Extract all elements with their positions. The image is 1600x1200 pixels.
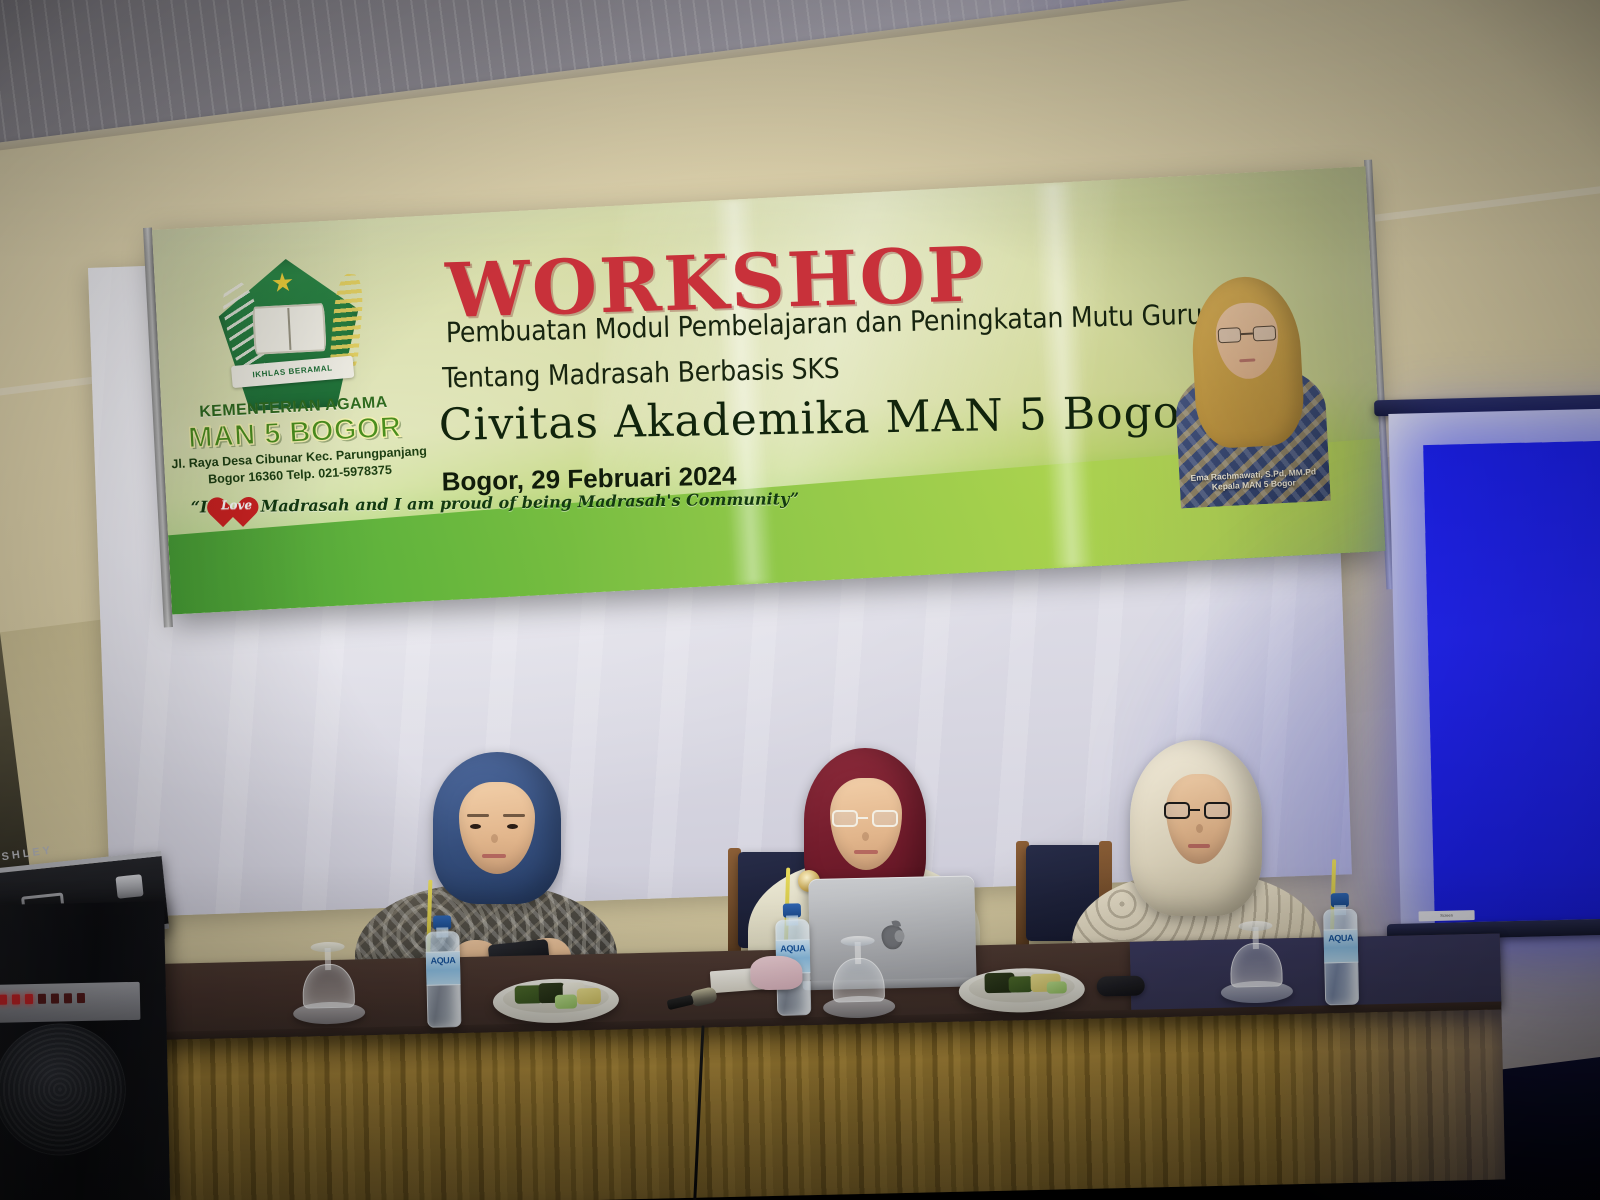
- person-left-brow-right: [503, 814, 525, 817]
- person-left-eye-left: [470, 824, 481, 829]
- screen-brand-label: Screen: [1419, 910, 1475, 921]
- snack-item: [555, 994, 577, 1008]
- snack-plate-left: [492, 969, 619, 1024]
- bottle-label: AQUA: [1324, 929, 1359, 964]
- person-center-mouth: [854, 850, 878, 854]
- snack-item: [1047, 981, 1067, 993]
- person-center-nose: [862, 832, 869, 841]
- person-left-nose: [491, 834, 498, 843]
- goblet-foot: [841, 936, 875, 947]
- water-bottle-left[interactable]: AQUA: [425, 915, 462, 1028]
- tissue-pack: [750, 955, 803, 990]
- banner-shading: [152, 166, 1385, 614]
- goblet-center: [830, 935, 888, 1022]
- person-right-glasses-icon: [1164, 802, 1230, 819]
- bottle-brand-text: AQUA: [776, 940, 810, 957]
- goblet-bowl: [302, 963, 355, 1008]
- snack-plate-right: [958, 959, 1085, 1014]
- bottle-label: AQUA: [426, 951, 461, 986]
- person-right-nose: [1196, 824, 1203, 833]
- bottle-brand-text: AQUA: [1324, 930, 1358, 947]
- goblet-bowl: [832, 957, 885, 1002]
- goblet-foot: [1238, 921, 1272, 932]
- goblet-bowl: [1230, 942, 1283, 987]
- bottle-brand-text: AQUA: [426, 952, 460, 969]
- event-banner: ★ IKHLAS BERAMAL KEMENTERIAN AGAMA MAN 5…: [152, 166, 1385, 614]
- person-right-mouth: [1188, 844, 1210, 848]
- water-bottle-right[interactable]: AQUA: [1323, 893, 1360, 1006]
- snack-item: [577, 988, 601, 1005]
- projected-image-area: [1423, 437, 1600, 923]
- speaker-cone: [0, 1022, 127, 1157]
- person-left-eye-right: [507, 824, 518, 829]
- person-center-glasses-icon: [832, 810, 898, 827]
- person-left-mouth: [482, 854, 506, 858]
- goblet-right: [1227, 920, 1285, 1007]
- goblet-left: [300, 941, 358, 1028]
- snack-item: [1008, 976, 1032, 993]
- presenter-remote[interactable]: [1097, 976, 1145, 997]
- goblet-foot: [311, 942, 345, 953]
- flight-case-latch[interactable]: [115, 874, 143, 899]
- speaker-led-indicators: [0, 993, 85, 1005]
- head-table: AQUA AQUA AQUA: [110, 933, 1505, 1200]
- projector-screen: Screen: [1388, 392, 1600, 940]
- person-left-brow-left: [467, 814, 489, 817]
- speaker-control-panel[interactable]: [0, 982, 140, 1023]
- mic-body: [666, 995, 694, 1011]
- pa-speaker: [0, 901, 170, 1200]
- photo-scene: Madrasah Kompeten Bogor ★ IKHLAS BERAMAL…: [0, 0, 1600, 1200]
- table-skirt-blue-light: [1271, 1009, 1505, 1184]
